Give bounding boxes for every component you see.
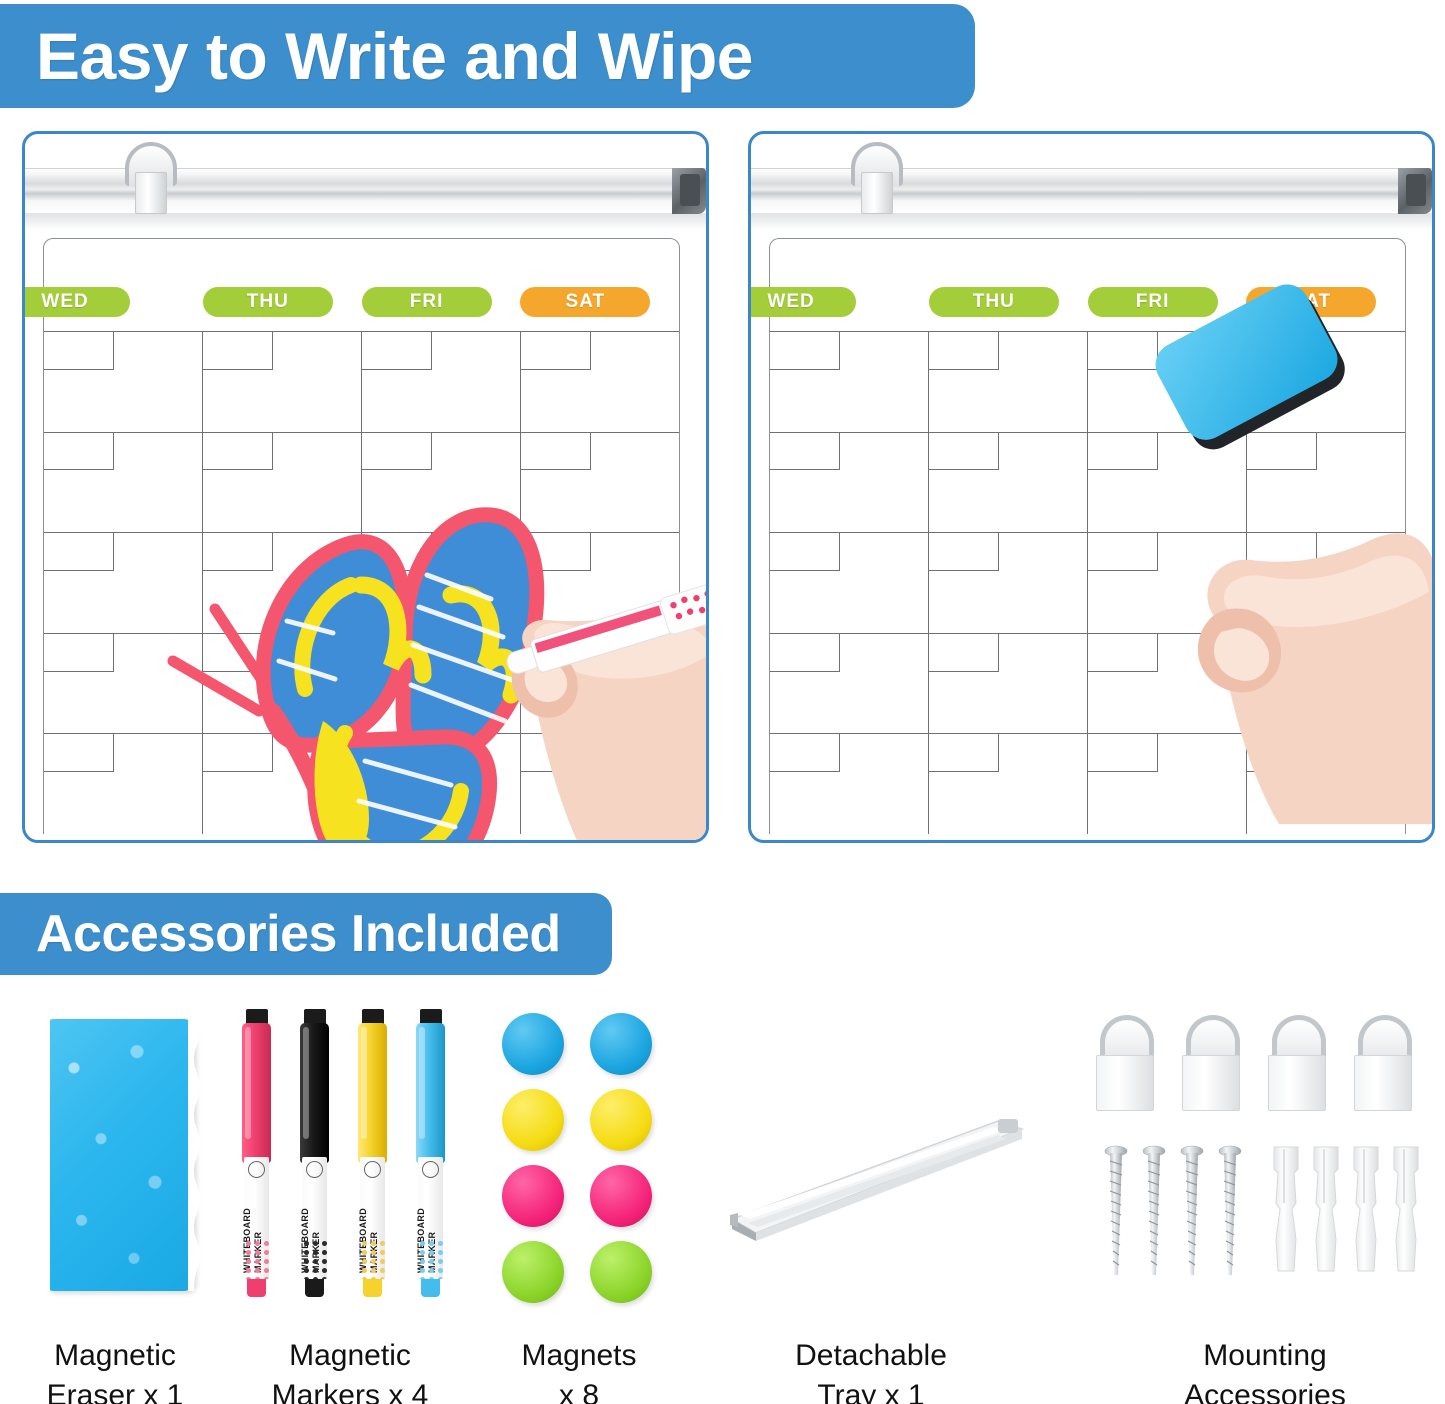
label-line-2: Tray x 1: [736, 1376, 1006, 1404]
label-mounting-accessories: Mounting Accessories: [1100, 1336, 1430, 1404]
calendar-cell: [770, 533, 928, 633]
eraser-wavy-edge-left: [38, 1019, 50, 1291]
marker-dot-pattern: [418, 1239, 443, 1279]
calendar-cell: [928, 533, 1087, 633]
magnet-pink: [502, 1165, 564, 1227]
accessory-detachable-tray: [726, 1115, 1026, 1245]
headline-banner-text: Easy to Write and Wipe: [36, 18, 753, 94]
day-pill-wed: WED: [22, 287, 130, 317]
d-ring-hanger-icon: [121, 142, 181, 214]
calendar-cell: [361, 433, 520, 533]
date-box: [203, 634, 273, 672]
date-box: [44, 734, 114, 772]
day-pill-thu: THU: [203, 287, 333, 317]
calendar-cell: [520, 433, 679, 533]
date-box: [203, 433, 273, 471]
marker-tail: [247, 1279, 266, 1297]
d-ring-plate: [861, 172, 893, 214]
calendar-cell: [520, 332, 679, 432]
day-pill-thu: THU: [929, 287, 1059, 317]
date-box: [929, 533, 999, 571]
d-ring-base-plate: [1354, 1055, 1412, 1111]
marker-dot-pattern: [244, 1239, 269, 1279]
d-ring-base-plate: [1182, 1055, 1240, 1111]
date-box: [44, 533, 114, 571]
marker-yellow: WHITEBOARD MARKER: [354, 1009, 390, 1297]
wall-anchors-group-icon: [1270, 1143, 1440, 1293]
d-ring-hanger-icon: [847, 142, 907, 214]
magnet-blue: [590, 1013, 652, 1075]
calendar-cell: [44, 433, 202, 533]
calendar-cell: [928, 433, 1087, 533]
d-ring-base-plate: [1268, 1055, 1326, 1111]
day-header-cell: WED: [44, 287, 203, 317]
rail-corner-cap: [672, 168, 706, 214]
day-header-row: WED THU FRI SAT: [44, 287, 679, 321]
pen-tray-icon: [726, 1115, 1026, 1245]
calendar-cell: [202, 332, 361, 432]
date-box: [929, 734, 999, 772]
date-box: [770, 332, 840, 370]
accessory-mounting-hardware: [1088, 1015, 1438, 1315]
accessory-magnets: [496, 1013, 666, 1303]
date-box: [521, 433, 591, 471]
calendar-cell: [770, 433, 928, 533]
date-box: [362, 533, 432, 571]
day-pill-fri: FRI: [362, 287, 492, 317]
d-ring-hanger-2: [1180, 1015, 1246, 1115]
calendar-cell: [770, 332, 928, 432]
screws-group-icon: [1104, 1143, 1254, 1293]
day-header-cell: WED: [770, 287, 929, 317]
marker-pink: WHITEBOARD MARKER: [238, 1009, 274, 1297]
calendar-row: [44, 331, 679, 432]
calendar-cell: [928, 734, 1087, 834]
d-ring-hanger-3: [1266, 1015, 1332, 1115]
marker-tip-icon: [248, 1161, 265, 1178]
date-box: [203, 734, 273, 772]
day-header-cell: FRI: [362, 287, 521, 317]
date-box: [203, 332, 273, 370]
whiteboard-panel-wiping: WED THU FRI SAT: [748, 131, 1435, 843]
rail-shadow: [25, 214, 706, 230]
date-box: [362, 734, 432, 772]
product-infographic: Easy to Write and Wipe WED THU FRI: [0, 0, 1445, 1404]
rail-shadow: [751, 214, 1432, 230]
d-ring-plate: [135, 172, 167, 214]
marker-tip-icon: [306, 1161, 323, 1178]
calendar-cell: [928, 634, 1087, 734]
calendar-cell: [770, 634, 928, 734]
magnet-pink: [590, 1165, 652, 1227]
date-box: [362, 332, 432, 370]
label-magnets: Magnets x 8: [474, 1336, 684, 1404]
date-box: [770, 433, 840, 471]
magnet-green: [502, 1241, 564, 1303]
accessories-row: WHITEBOARD MARKER WHITEBOARD MARKER WHIT…: [0, 995, 1445, 1335]
date-box: [770, 734, 840, 772]
magnet-yellow: [590, 1089, 652, 1151]
rail-corner-cap: [1398, 168, 1432, 214]
day-header-cell: THU: [203, 287, 362, 317]
day-pill-sat: SAT: [520, 287, 650, 317]
date-box: [44, 634, 114, 672]
label-line-2: Accessories: [1100, 1376, 1430, 1404]
label-line-1: Detachable: [736, 1336, 1006, 1376]
day-header-cell: THU: [929, 287, 1088, 317]
date-box: [203, 533, 273, 571]
calendar-row: [44, 432, 679, 533]
date-box: [44, 433, 114, 471]
accessories-banner: Accessories Included: [0, 893, 612, 975]
label-detachable-tray: Detachable Tray x 1: [736, 1336, 1006, 1404]
eraser-body-icon: [44, 1019, 194, 1291]
calendar-cell: [44, 332, 202, 432]
calendar-cell: [44, 634, 202, 734]
magnetic-eraser-icon: [1147, 282, 1377, 462]
marker-tip-icon: [364, 1161, 381, 1178]
day-pill-wed: WED: [748, 287, 856, 317]
headline-banner-easy-to-write-and-wipe: Easy to Write and Wipe: [0, 4, 975, 108]
eraser-wavy-edge-right: [188, 1019, 200, 1291]
day-header-cell: SAT: [520, 287, 679, 317]
date-box: [929, 433, 999, 471]
label-line-2: x 8: [474, 1376, 684, 1404]
label-line-2: Markers x 4: [230, 1376, 470, 1404]
date-box: [770, 634, 840, 672]
marker-tail: [421, 1279, 440, 1297]
d-ring-hanger-1: [1094, 1015, 1160, 1115]
marker-cap: [242, 1023, 271, 1163]
label-line-1: Mounting: [1100, 1336, 1430, 1376]
date-box: [521, 332, 591, 370]
label-line-1: Magnets: [474, 1336, 684, 1376]
date-box: [362, 634, 432, 672]
label-magnetic-markers: Magnetic Markers x 4: [230, 1336, 470, 1404]
calendar-cell: [202, 433, 361, 533]
date-box: [770, 533, 840, 571]
date-box: [929, 332, 999, 370]
whiteboard-panel-writing: WED THU FRI SAT: [22, 131, 709, 843]
accessory-magnetic-markers: WHITEBOARD MARKER WHITEBOARD MARKER WHIT…: [238, 1009, 448, 1299]
hand-holding-eraser: [1121, 404, 1435, 824]
d-ring-base-plate: [1096, 1055, 1154, 1111]
calendar-cell: [44, 734, 202, 834]
marker-tail: [305, 1279, 324, 1297]
rail-cap-hole: [680, 174, 700, 206]
accessory-magnetic-eraser: [44, 1019, 194, 1291]
marker-dot-pattern: [302, 1239, 327, 1279]
calendar-cell: [361, 332, 520, 432]
d-ring-hanger-4: [1352, 1015, 1418, 1115]
marker-tail: [363, 1279, 382, 1297]
date-box: [929, 634, 999, 672]
label-line-2: Eraser x 1: [0, 1376, 230, 1404]
calendar-cell: [44, 533, 202, 633]
calendar-cell: [202, 533, 361, 633]
marker-cap: [300, 1023, 329, 1163]
label-line-1: Magnetic: [0, 1336, 230, 1376]
marker-cap: [358, 1023, 387, 1163]
calendar-cell: [928, 332, 1087, 432]
calendar-cell: [202, 734, 361, 834]
accessories-banner-text: Accessories Included: [36, 904, 561, 964]
label-line-1: Magnetic: [230, 1336, 470, 1376]
date-box: [362, 433, 432, 471]
marker-blue: WHITEBOARD MARKER: [412, 1009, 448, 1297]
marker-dot-pattern: [360, 1239, 385, 1279]
marker-cap: [416, 1023, 445, 1163]
date-box: [44, 332, 114, 370]
calendar-cell: [770, 734, 928, 834]
whiteboard-marker-in-hand-icon: [495, 572, 709, 692]
marker-tip-icon: [422, 1161, 439, 1178]
marker-black: WHITEBOARD MARKER: [296, 1009, 332, 1297]
calendar-cell: [202, 634, 361, 734]
magnet-blue: [502, 1013, 564, 1075]
label-magnetic-eraser: Magnetic Eraser x 1: [0, 1336, 230, 1404]
magnet-yellow: [502, 1089, 564, 1151]
rail-cap-hole: [1406, 174, 1426, 206]
magnet-green: [590, 1241, 652, 1303]
